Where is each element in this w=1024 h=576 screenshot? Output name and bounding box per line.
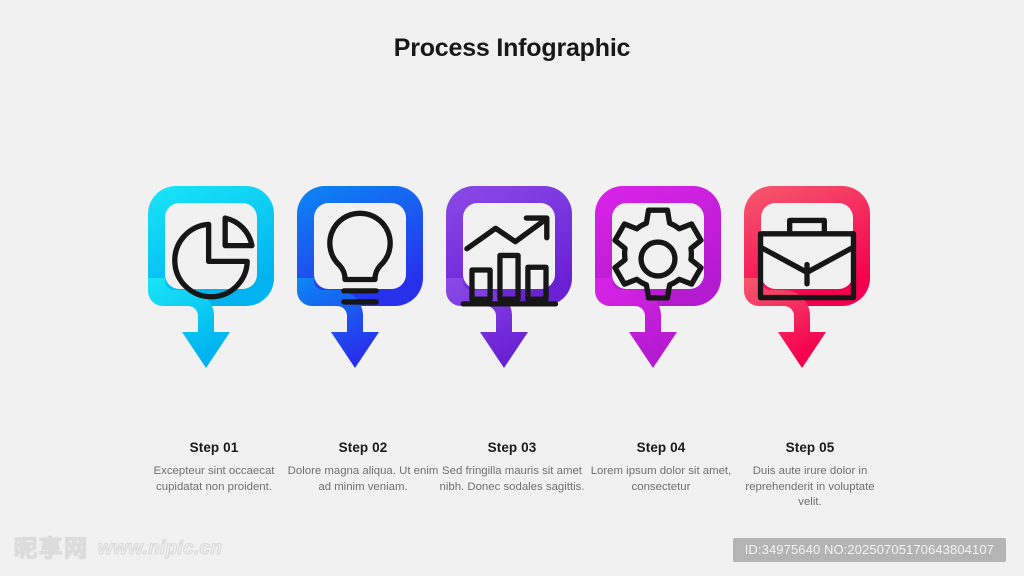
step-label-2: Step 02: [287, 440, 439, 455]
infographic-canvas: Process Infographic: [0, 0, 1024, 576]
step-card-2[interactable]: [297, 186, 423, 368]
step-description-4: Lorem ipsum dolor sit amet, consectetur: [585, 464, 737, 495]
step-description-2: Dolore magna aliqua. Ut enim ad minim ve…: [287, 464, 439, 495]
step-label-3: Step 03: [436, 440, 588, 455]
step-label-1: Step 01: [138, 440, 290, 455]
step-description-1: Excepteur sint occaecat cupidatat non pr…: [138, 464, 290, 495]
step-caption-1: Step 01Excepteur sint occaecat cupidatat…: [138, 440, 290, 495]
steps-row: [148, 186, 888, 376]
step-card-4[interactable]: [595, 186, 721, 368]
page-title: Process Infographic: [0, 34, 1024, 63]
captions-row: Step 01Excepteur sint occaecat cupidatat…: [138, 440, 898, 550]
step-description-5: Duis aute irure dolor in reprehenderit i…: [734, 464, 886, 511]
step-label-5: Step 05: [734, 440, 886, 455]
step-caption-2: Step 02Dolore magna aliqua. Ut enim ad m…: [287, 440, 439, 495]
step-caption-4: Step 04Lorem ipsum dolor sit amet, conse…: [585, 440, 737, 495]
id-badge: ID:34975640 NO:20250705170643804107: [733, 538, 1006, 562]
step-card-5[interactable]: [744, 186, 870, 368]
watermark-logo: 昵享网: [14, 537, 89, 560]
step-caption-5: Step 05Duis aute irure dolor in reprehen…: [734, 440, 886, 511]
watermark: 昵享网 www.nipic.cn: [14, 537, 222, 560]
step-label-4: Step 04: [585, 440, 737, 455]
step-card-1[interactable]: [148, 186, 274, 368]
watermark-url: www.nipic.cn: [98, 539, 222, 558]
step-description-3: Sed fringilla mauris sit amet nibh. Done…: [436, 464, 588, 495]
step-caption-3: Step 03Sed fringilla mauris sit amet nib…: [436, 440, 588, 495]
step-card-3[interactable]: [446, 186, 572, 368]
